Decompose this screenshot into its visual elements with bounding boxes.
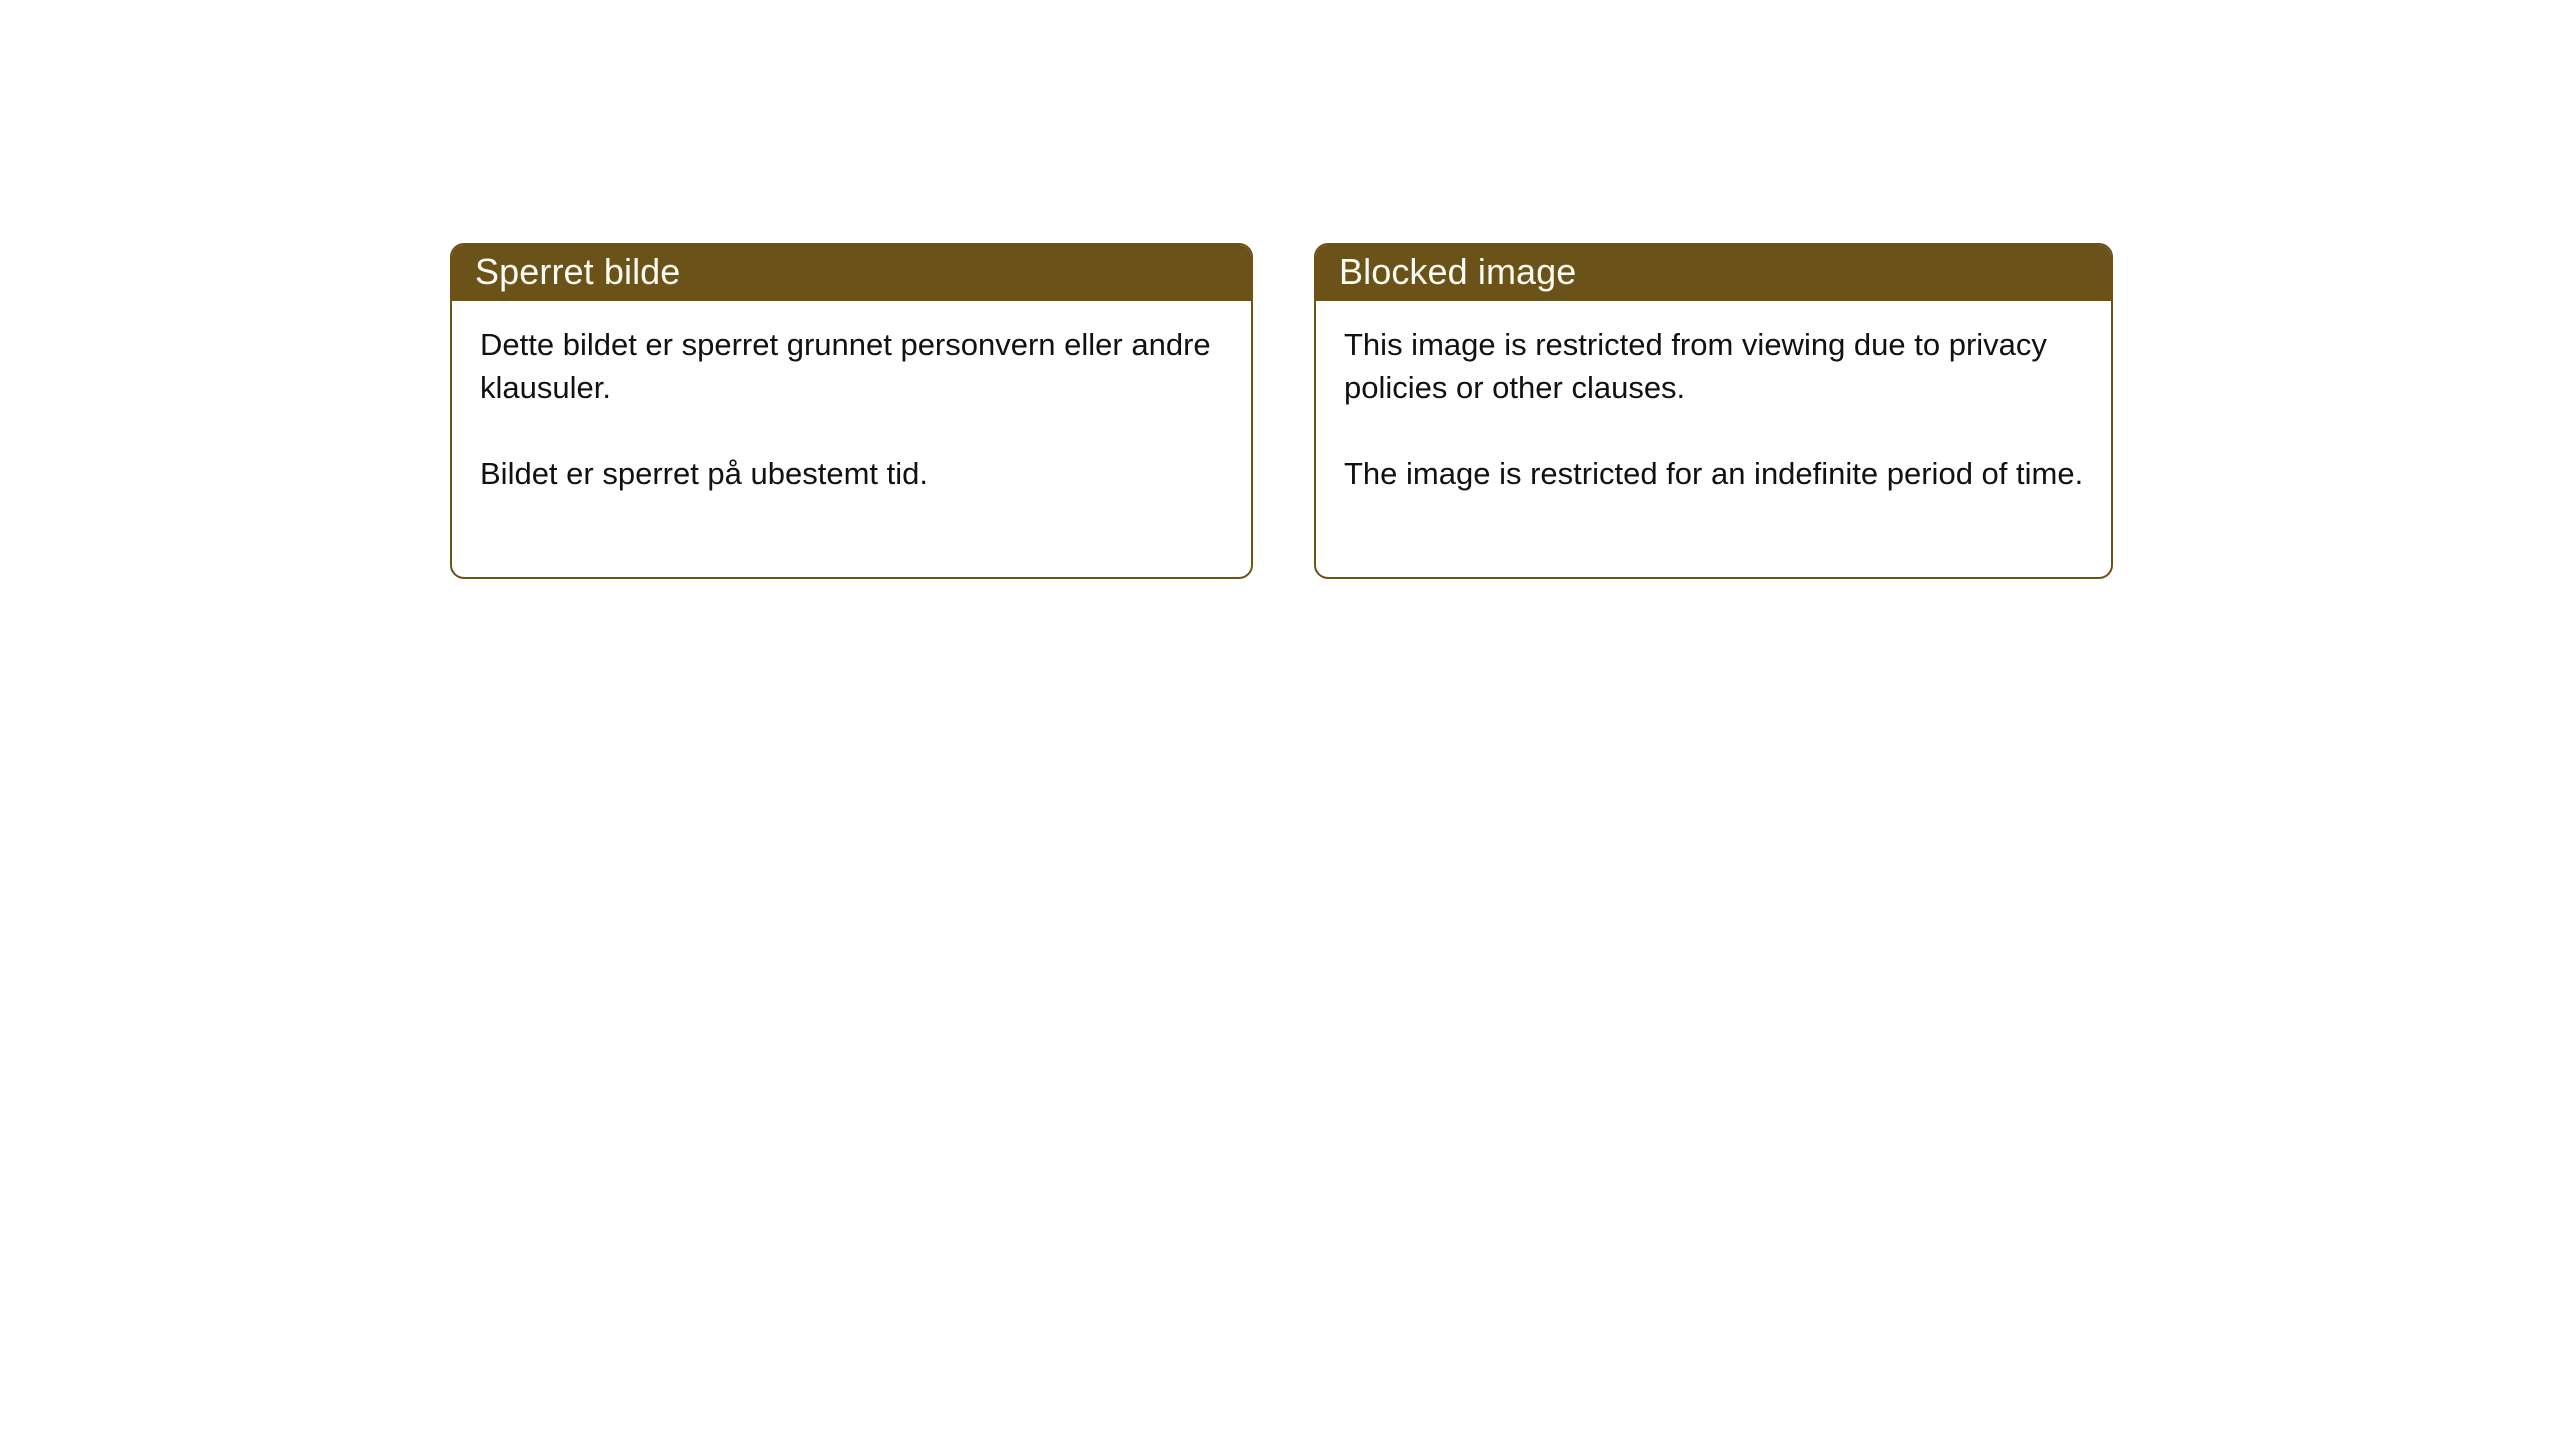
card-body-english: This image is restricted from viewing du… xyxy=(1316,301,2111,495)
card-header-english: Blocked image xyxy=(1314,243,2113,301)
card-header-norwegian: Sperret bilde xyxy=(450,243,1253,301)
card-title-english: Blocked image xyxy=(1339,254,1576,290)
blocked-image-card-norwegian: Sperret bilde Dette bildet er sperret gr… xyxy=(450,243,1253,579)
card-paragraph-primary-english: This image is restricted from viewing du… xyxy=(1344,323,2085,409)
card-body-norwegian: Dette bildet er sperret grunnet personve… xyxy=(452,301,1251,495)
card-paragraph-primary-norwegian: Dette bildet er sperret grunnet personve… xyxy=(480,323,1225,409)
card-title-norwegian: Sperret bilde xyxy=(475,254,680,290)
card-paragraph-secondary-norwegian: Bildet er sperret på ubestemt tid. xyxy=(480,452,1225,495)
blocked-image-notice-area: Sperret bilde Dette bildet er sperret gr… xyxy=(0,0,2560,1440)
card-paragraph-secondary-english: The image is restricted for an indefinit… xyxy=(1344,452,2085,495)
blocked-image-card-english: Blocked image This image is restricted f… xyxy=(1314,243,2113,579)
